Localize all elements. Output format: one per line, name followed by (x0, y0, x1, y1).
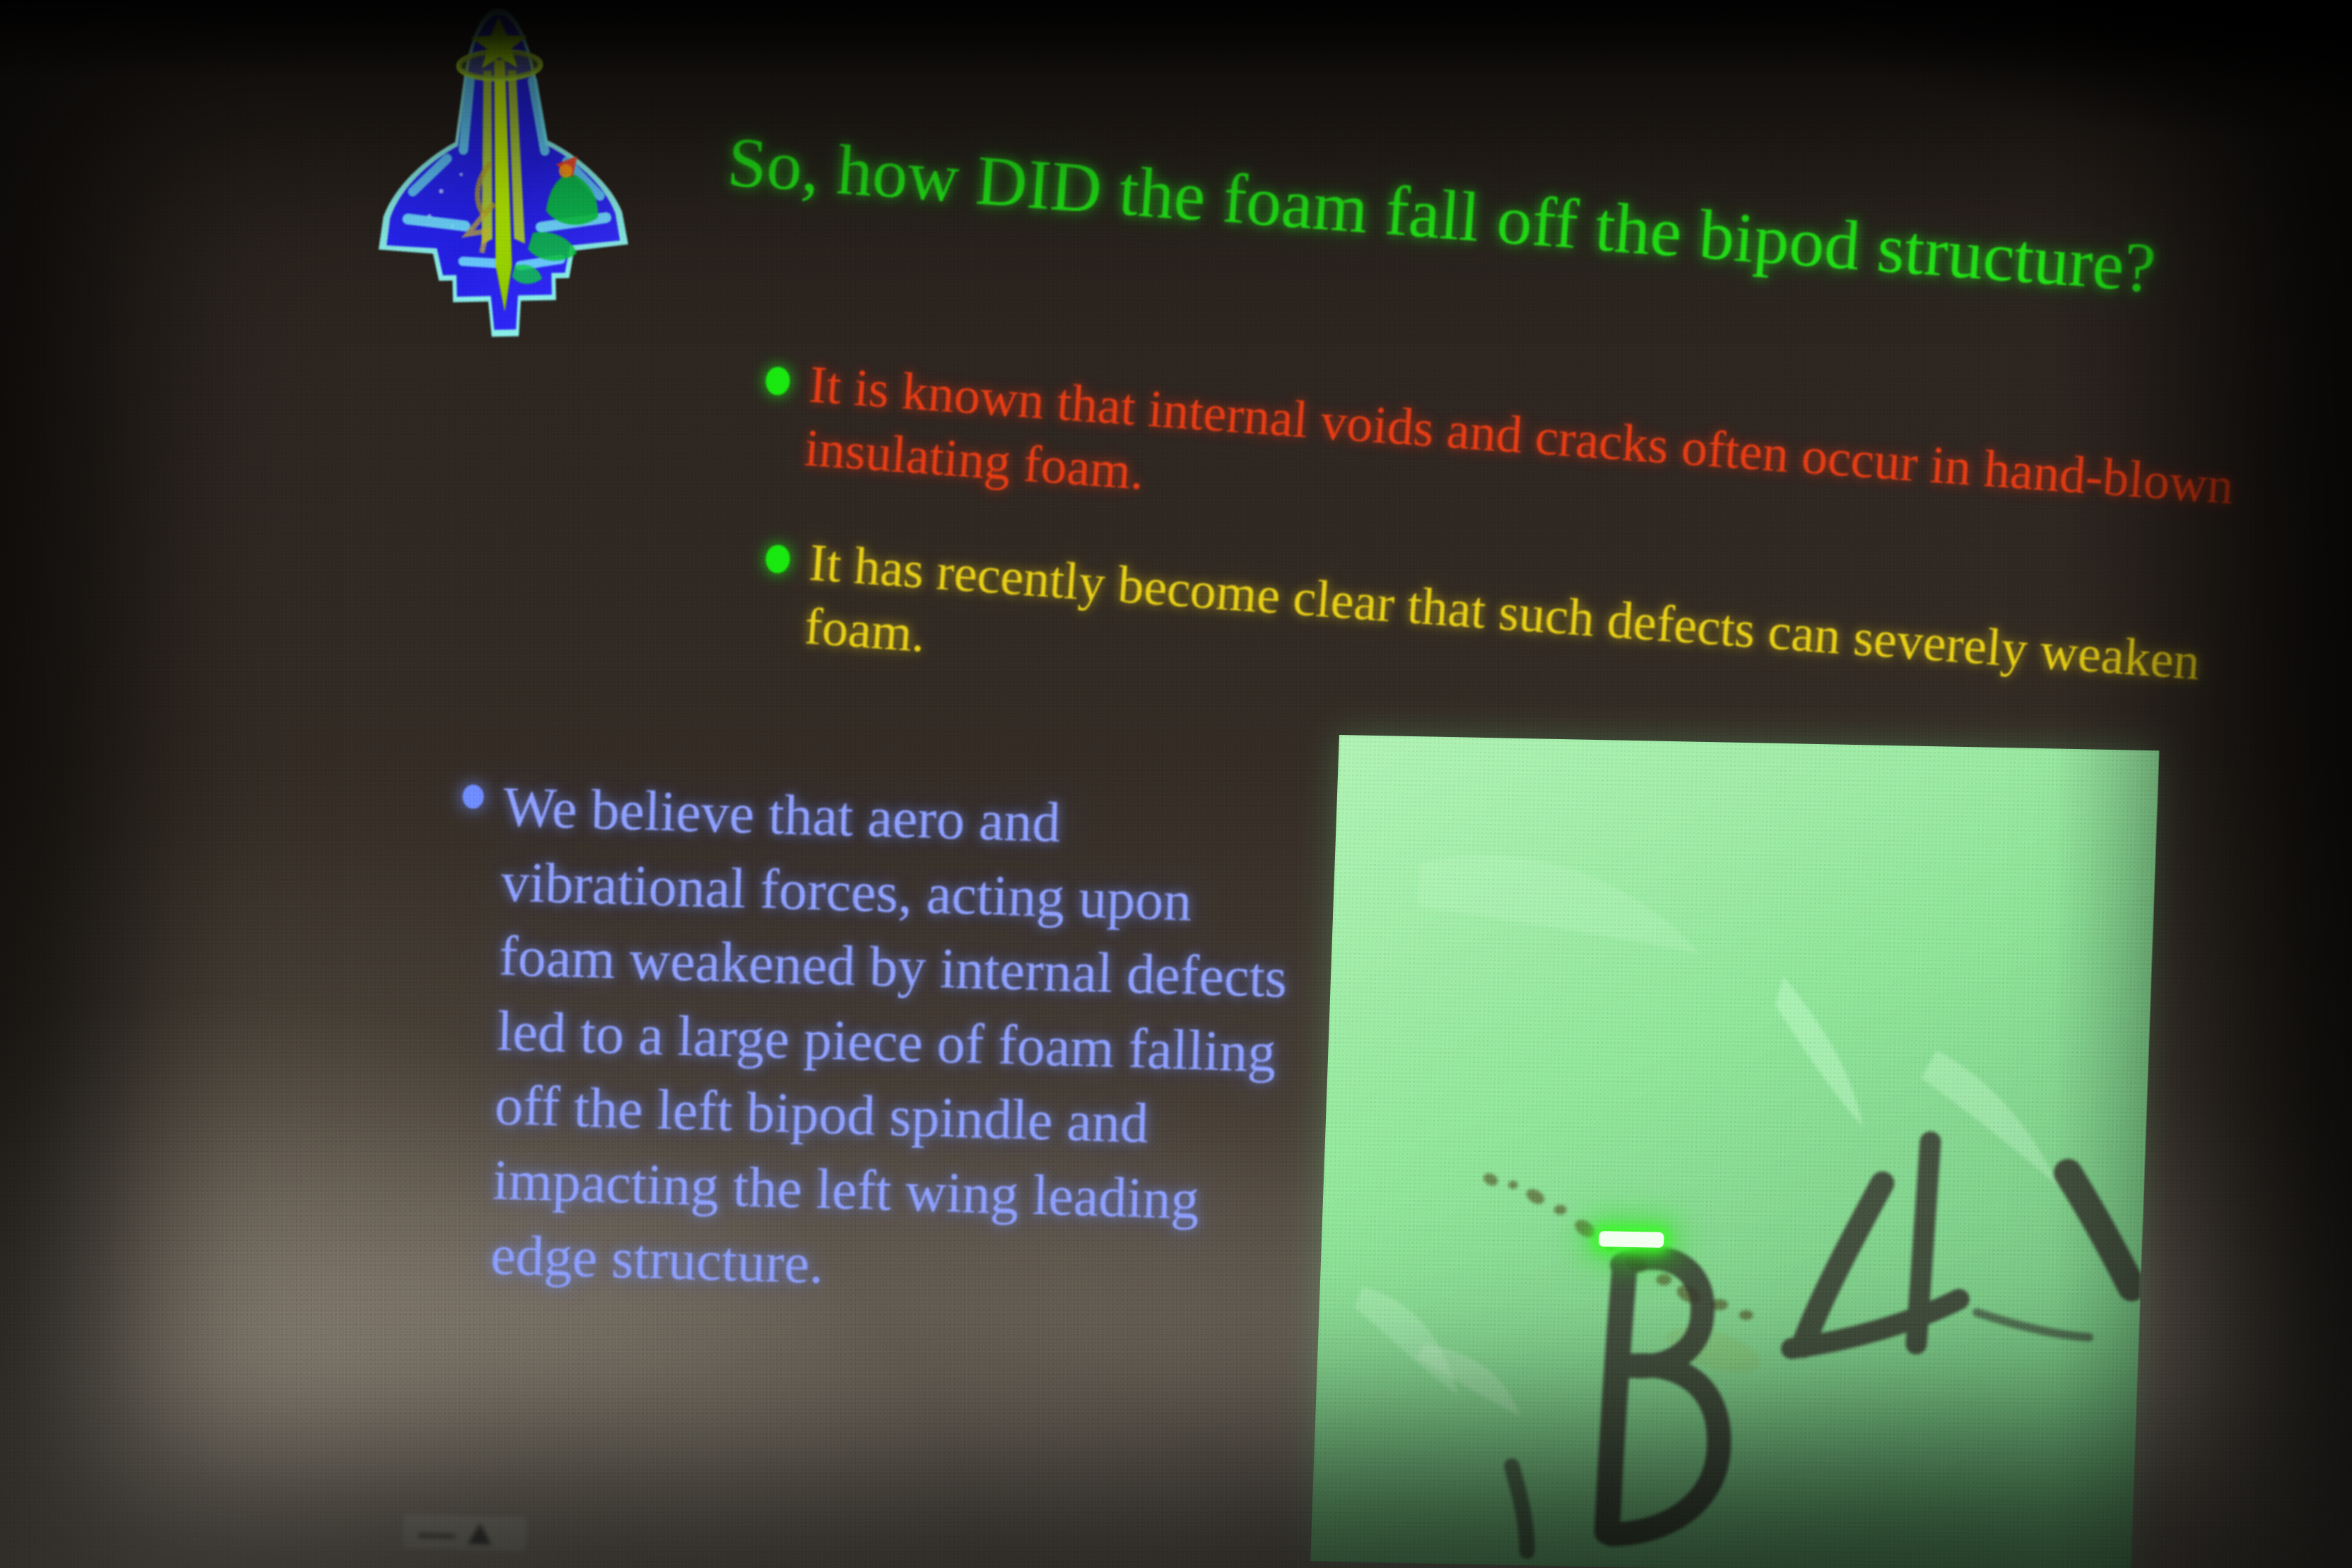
green-round-bullet-icon (765, 544, 791, 574)
blue-round-bullet-icon (462, 784, 484, 809)
projection-screen: So, how DID the foam fall off the bipod … (0, 0, 2352, 1568)
slide-title: So, how DID the foam fall off the bipod … (725, 124, 2140, 304)
bullet-item-3-text: We believe that aero and vibrational for… (490, 770, 1317, 1315)
photo-grain (1310, 735, 2159, 1568)
bullet-item-3: We believe that aero and vibrational for… (463, 784, 1311, 808)
powerpoint-slideshow-control[interactable] (402, 1514, 527, 1552)
control-pointer-icon (468, 1523, 493, 1545)
presentation-slide: So, how DID the foam fall off the bipod … (0, 0, 2352, 1568)
foam-surface-photo (1310, 735, 2159, 1568)
sts-107-mission-patch-icon (357, 0, 647, 342)
control-bar-icon (418, 1533, 455, 1538)
laser-pointer-dot (1599, 1231, 1664, 1248)
green-round-bullet-icon (765, 366, 791, 396)
